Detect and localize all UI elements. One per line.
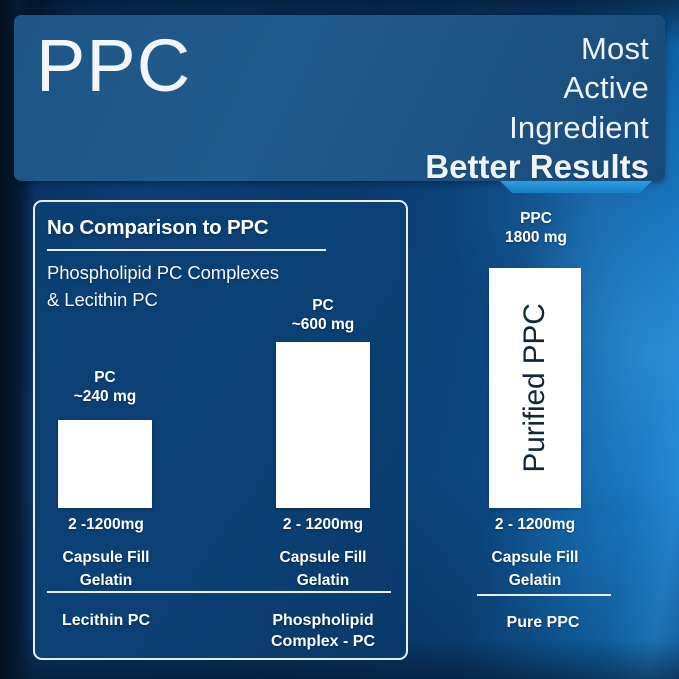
axis-label-pure-ppc-line1: Pure PPC: [470, 612, 616, 633]
axis-label-lecithin-line1: Lecithin PC: [47, 610, 165, 631]
header-banner: PPC Most Active Ingredient Better Result…: [14, 15, 665, 181]
arrow-notch-icon: [500, 181, 652, 193]
bar-pure-ppc: Purified PPC: [489, 268, 581, 508]
bar-caption-label-pure-ppc: PPC: [478, 209, 594, 228]
bar-footer-pure-ppc: 2 - 1200mg Capsule Fill Gelatin: [476, 513, 594, 593]
bar-form-line1-pure-ppc: Capsule Fill: [476, 546, 594, 570]
bar-form-line1-lecithin: Capsule Fill: [47, 546, 165, 570]
bar-caption-value-phospholipid: ~600 mg: [272, 315, 374, 334]
bar-caption-lecithin: PC ~240 mg: [55, 368, 155, 407]
bar-dose-lecithin: 2 -1200mg: [47, 513, 165, 537]
bar-caption-pure-ppc: PPC 1800 mg: [478, 209, 594, 248]
panel-title: No Comparison to PPC: [47, 216, 269, 240]
tagline-line-3: Ingredient: [425, 108, 649, 147]
header-tagline: Most Active Ingredient Better Results: [425, 29, 649, 181]
tagline-bold: Better Results: [425, 147, 649, 181]
bar-caption-label-lecithin: PC: [55, 368, 155, 387]
axis-label-phospholipid-line1: Phospholipid: [250, 610, 396, 631]
bar-inner-label-pure-ppc: Purified PPC: [518, 303, 552, 472]
panel-subtitle-line-2: & Lecithin PC: [47, 286, 279, 313]
bar-form-line1-phospholipid: Capsule Fill: [264, 546, 382, 570]
infographic-page: PPC Most Active Ingredient Better Result…: [0, 0, 679, 679]
right-axis-divider: [477, 594, 611, 596]
bar-caption-value-lecithin: ~240 mg: [55, 387, 155, 406]
axis-label-phospholipid: Phospholipid Complex - PC: [250, 610, 396, 652]
bar-dose-pure-ppc: 2 - 1200mg: [476, 513, 594, 537]
axis-label-phospholipid-line2: Complex - PC: [250, 631, 396, 652]
tagline-line-2: Active: [425, 68, 649, 107]
panel-subtitle: Phospholipid PC Complexes & Lecithin PC: [47, 259, 279, 313]
axis-label-lecithin: Lecithin PC: [47, 610, 165, 631]
bar-form-line2-lecithin: Gelatin: [47, 569, 165, 593]
bar-footer-phospholipid: 2 - 1200mg Capsule Fill Gelatin: [264, 513, 382, 593]
axis-label-pure-ppc: Pure PPC: [470, 612, 616, 633]
bar-caption-value-pure-ppc: 1800 mg: [478, 228, 594, 247]
bar-phospholipid: [276, 342, 370, 508]
bar-lecithin: [58, 420, 152, 508]
panel-subtitle-line-1: Phospholipid PC Complexes: [47, 259, 279, 286]
bar-dose-phospholipid: 2 - 1200mg: [264, 513, 382, 537]
left-axis-divider: [47, 591, 391, 593]
bar-caption-phospholipid: PC ~600 mg: [272, 296, 374, 335]
tagline-line-1: Most: [425, 29, 649, 68]
bar-form-line2-pure-ppc: Gelatin: [476, 569, 594, 593]
title-divider: [47, 249, 326, 251]
brand-title: PPC: [36, 25, 191, 108]
bar-footer-lecithin: 2 -1200mg Capsule Fill Gelatin: [47, 513, 165, 593]
bar-form-line2-phospholipid: Gelatin: [264, 569, 382, 593]
bar-caption-label-phospholipid: PC: [272, 296, 374, 315]
